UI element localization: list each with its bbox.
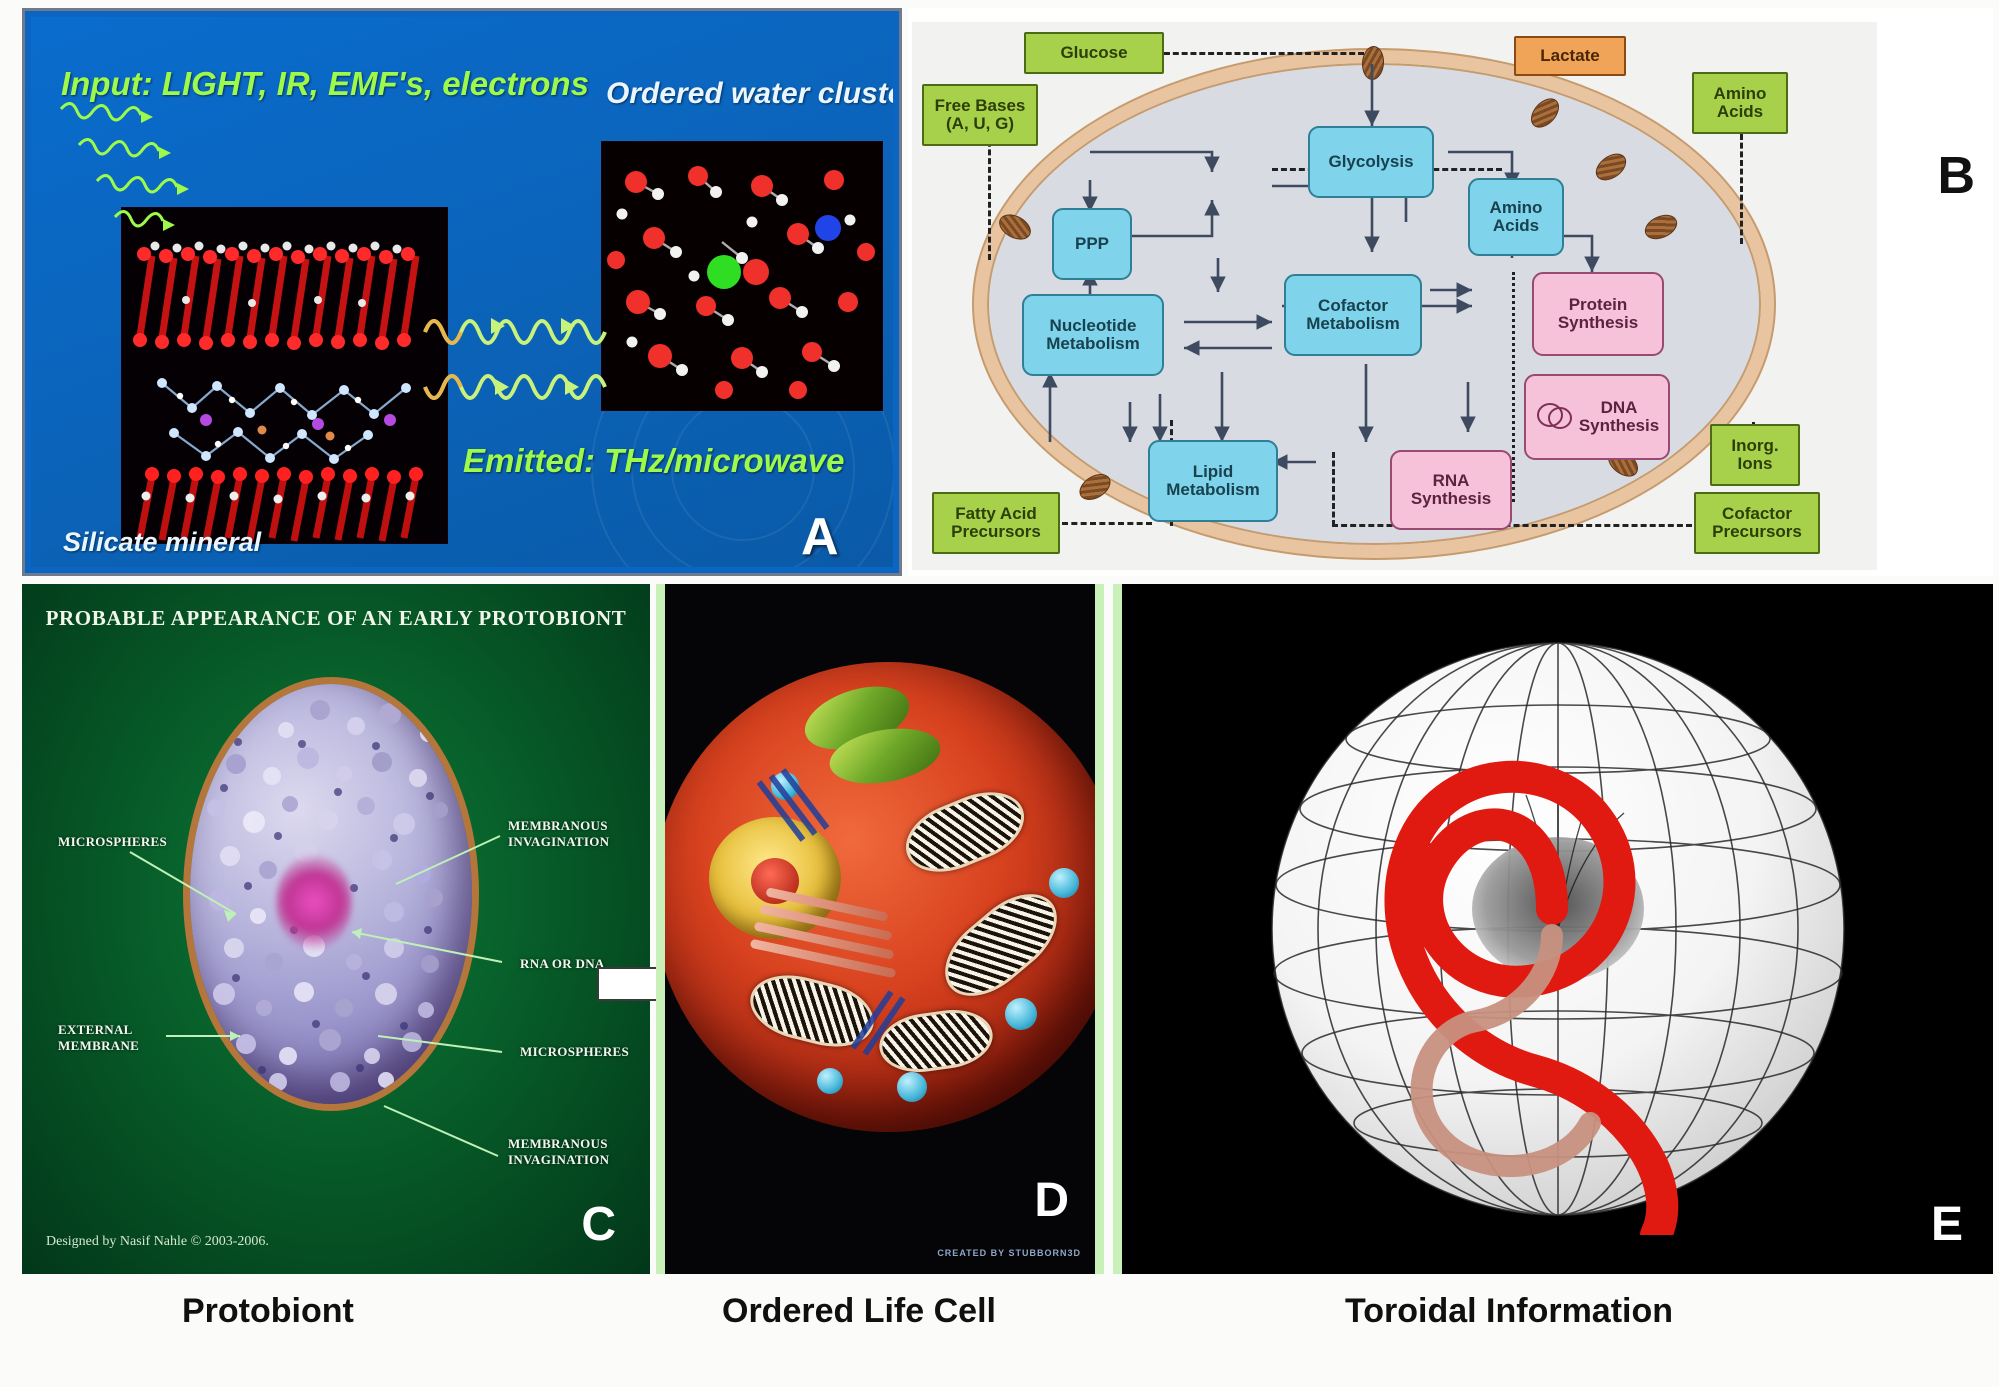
label-text-line1: Inorg. [1731, 437, 1778, 455]
label-text-line2: Ions [1738, 455, 1773, 473]
label-text-line2: Precursors [951, 523, 1041, 541]
panel-c: PROBABLE APPEARANCE OF AN EARLY PROTOBIO… [22, 584, 650, 1274]
panel-a-letter: A [801, 507, 839, 567]
box-rna-synthesis: RNA Synthesis [1390, 450, 1512, 530]
box-label-line2: Synthesis [1579, 417, 1659, 435]
figure-canvas: Input: LIGHT, IR, EMF's, electrons Emitt… [0, 0, 1999, 1387]
panel-a: Input: LIGHT, IR, EMF's, electrons Emitt… [22, 8, 902, 576]
box-label: Glycolysis [1328, 153, 1413, 171]
label-fatty-acid-precursors: Fatty Acid Precursors [932, 492, 1060, 554]
label-lactate: Lactate [1514, 36, 1626, 76]
cytoskeleton-filaments [656, 662, 1104, 1132]
label-glucose: Glucose [1024, 32, 1164, 74]
panel-b-canvas: Glycolysis PPP Amino Acids Nucleotide Me… [912, 22, 1877, 570]
caption-toroidal-information: Toroidal Information [1345, 1292, 1673, 1331]
panel-a-silicate-label: Silicate mineral [63, 527, 261, 558]
box-label-line1: DNA [1579, 399, 1659, 417]
label-text-line2: Precursors [1712, 523, 1802, 541]
label-inorganic-ions: Inorg. Ions [1710, 424, 1800, 486]
panel-c-leader-lines [22, 584, 650, 1274]
box-protein-synthesis: Protein Synthesis [1532, 272, 1664, 356]
green-ion [707, 255, 741, 289]
box-label-line2: Synthesis [1411, 490, 1491, 508]
box-label-line2: Acids [1493, 217, 1539, 235]
box-cofactor-metabolism: Cofactor Metabolism [1284, 274, 1422, 356]
box-dna-synthesis: DNA Synthesis [1524, 374, 1670, 460]
panel-a-background: Input: LIGHT, IR, EMF's, electrons Emitt… [31, 17, 893, 567]
panel-d-letter: D [1034, 1173, 1069, 1228]
box-label-line1: Lipid [1193, 463, 1234, 481]
box-label-line1: Protein [1569, 296, 1628, 314]
box-label-line2: Metabolism [1046, 335, 1140, 353]
box-label: PPP [1075, 235, 1109, 253]
blue-ion [815, 215, 841, 241]
box-glycolysis: Glycolysis [1308, 126, 1434, 198]
label-microspheres-right: MICROSPHERES [520, 1044, 629, 1060]
label-external-membrane: EXTERNAL MEMBRANE [58, 1022, 139, 1055]
label-text-line2: (A, U, G) [946, 115, 1014, 133]
caption-ordered-life-cell: Ordered Life Cell [722, 1292, 996, 1331]
panel-d-credit: Created by Stubborn3D [937, 1248, 1081, 1258]
label-text-line1: Free Bases [935, 97, 1026, 115]
box-label-line2: Synthesis [1558, 314, 1638, 332]
label-text: Glucose [1060, 44, 1127, 62]
panel-b: Glycolysis PPP Amino Acids Nucleotide Me… [908, 8, 1993, 576]
box-label-line2: Metabolism [1166, 481, 1260, 499]
box-amino-acids: Amino Acids [1468, 178, 1564, 256]
panel-d: Created by Stubborn3D D [656, 584, 1104, 1274]
label-cofactor-precursors: Cofactor Precursors [1694, 492, 1820, 554]
label-amino-acids-external: Amino Acids [1692, 72, 1788, 134]
box-nucleotide-metabolism: Nucleotide Metabolism [1022, 294, 1164, 376]
nucleus-icon [1535, 397, 1575, 437]
box-label-line1: Amino [1490, 199, 1543, 217]
box-label-line2: Metabolism [1306, 315, 1400, 333]
panel-c-letter: C [581, 1197, 616, 1252]
ordered-water-cluster-image [601, 141, 883, 411]
label-membranous-invagination-bottom: MEMBRANOUS INVAGINATION [508, 1136, 609, 1169]
label-text-line2: Acids [1717, 103, 1763, 121]
box-label-line1: Cofactor [1318, 297, 1388, 315]
label-rna-or-dna: RNA OR DNA [520, 956, 605, 972]
label-membranous-invagination-top: MEMBRANOUS INVAGINATION [508, 818, 609, 851]
box-ppp: PPP [1052, 208, 1132, 280]
label-text-line1: Amino [1714, 85, 1767, 103]
label-microspheres-left: MICROSPHERES [58, 834, 167, 850]
panel-a-emitted-label: Emitted: THz/microwave [463, 442, 844, 480]
box-label-line1: Nucleotide [1050, 317, 1137, 335]
panel-c-credit: Designed by Nasif Nahle © 2003-2006. [46, 1234, 269, 1250]
panel-e: E [1113, 584, 1993, 1274]
water-cluster-svg [602, 142, 882, 410]
panel-a-ordered-water-label: Ordered water clusters [606, 77, 893, 111]
label-free-bases: Free Bases (A, U, G) [922, 84, 1038, 146]
input-wave-arrows [49, 95, 349, 295]
panel-a-input-label: Input: LIGHT, IR, EMF's, electrons [61, 65, 589, 103]
caption-protobiont: Protobiont [182, 1292, 354, 1331]
label-text-line1: Fatty Acid [955, 505, 1037, 523]
panel-b-letter: B [1937, 146, 1975, 206]
box-label-line1: RNA [1433, 472, 1470, 490]
label-text-line1: Cofactor [1722, 505, 1792, 523]
box-lipid-metabolism: Lipid Metabolism [1148, 440, 1278, 522]
panel-e-letter: E [1931, 1197, 1963, 1252]
ordered-life-cell-image [656, 662, 1104, 1132]
toroidal-information-sphere [1252, 623, 1864, 1235]
label-text: Lactate [1540, 47, 1600, 65]
